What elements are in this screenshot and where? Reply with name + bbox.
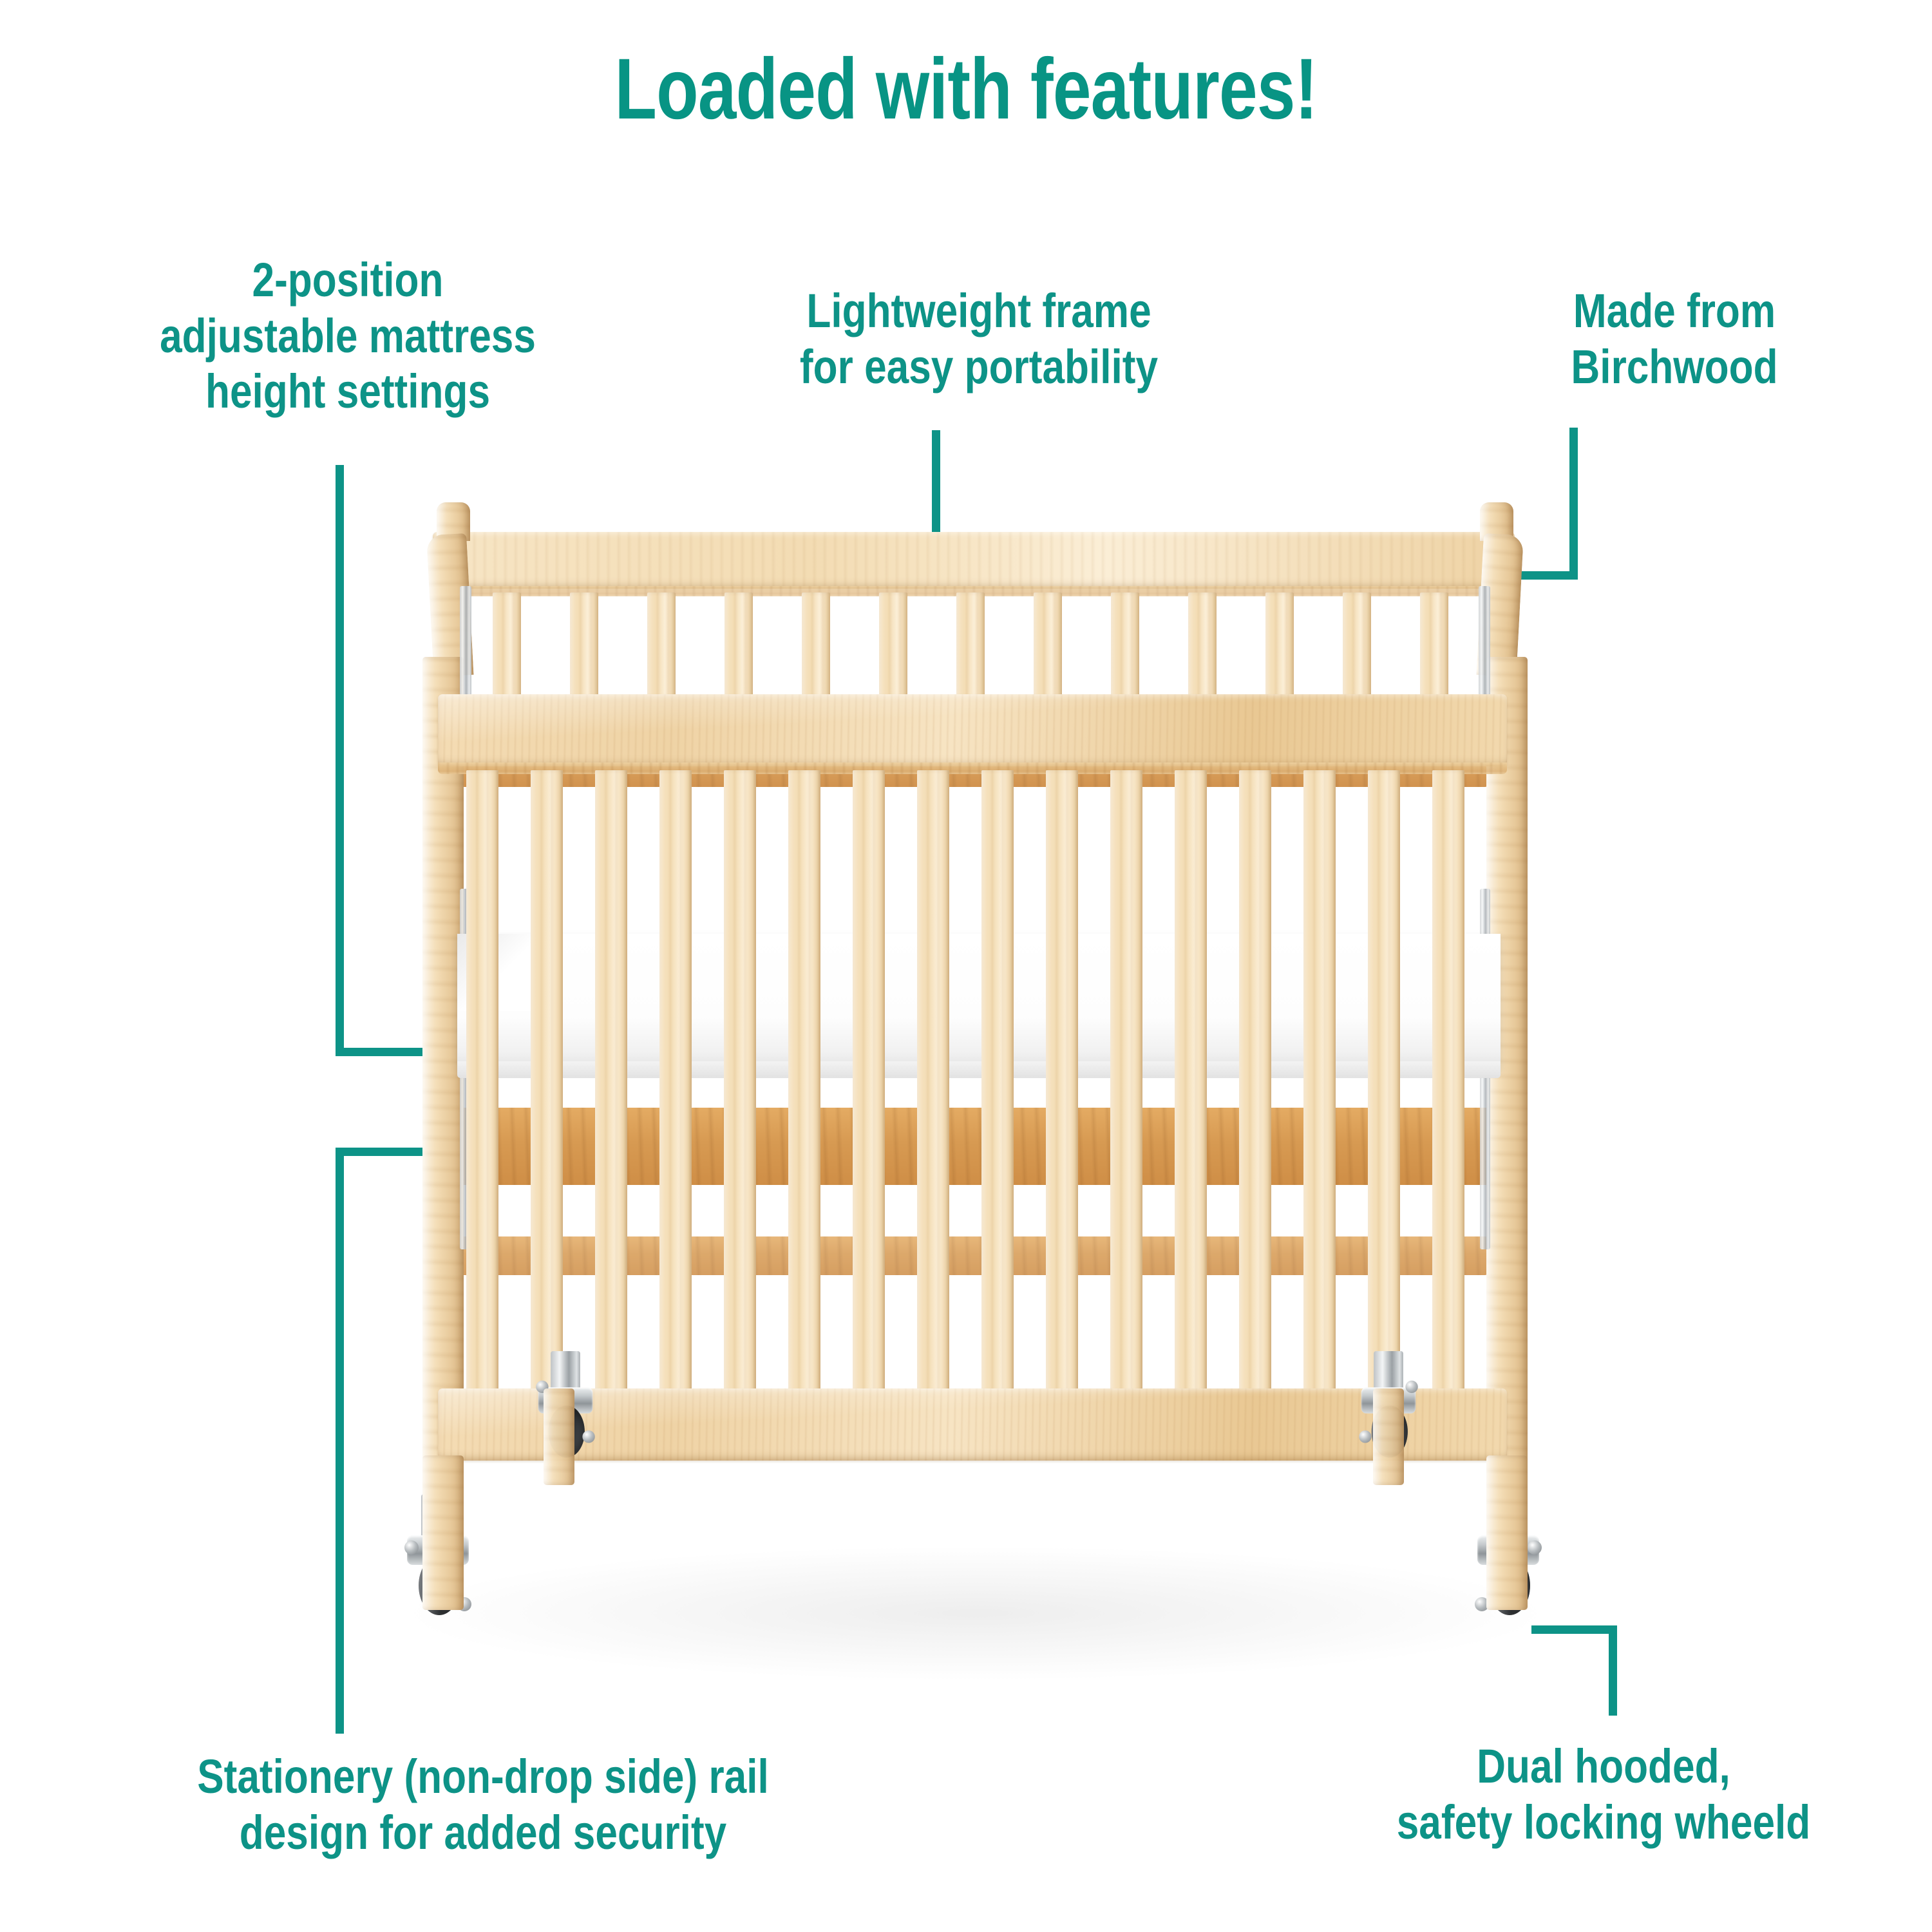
leg-back-right [1373,1388,1404,1485]
callout-birchwood: Made from Birchwood [1474,283,1875,395]
callout-lightweight-frame: Lightweight frame for easy portability [730,283,1228,395]
callout-stationery-rail: Stationery (non-drop side) rail design f… [99,1749,867,1861]
product-illustration-crib [361,489,1584,1674]
callout-mattress-height: 2-position adjustable mattress height se… [109,252,585,420]
front-slat-group-overlay [361,489,1584,1674]
leg-front-right [1486,1455,1528,1610]
leader-line-locking-wheels-vertical [1609,1625,1617,1716]
callout-locking-wheels: Dual hooded, safety locking wheeld [1333,1739,1874,1850]
page-title: Loaded with features! [193,46,1739,133]
leader-line-mattress-height-vertical [336,465,344,1056]
leader-line-stationery-rail-vertical [336,1148,344,1734]
bottom-rail [438,1388,1507,1461]
leg-front-left [422,1455,464,1610]
leg-back-left [544,1388,574,1485]
infographic-canvas: Loaded with features! 2-position adjusta… [0,0,1932,1932]
